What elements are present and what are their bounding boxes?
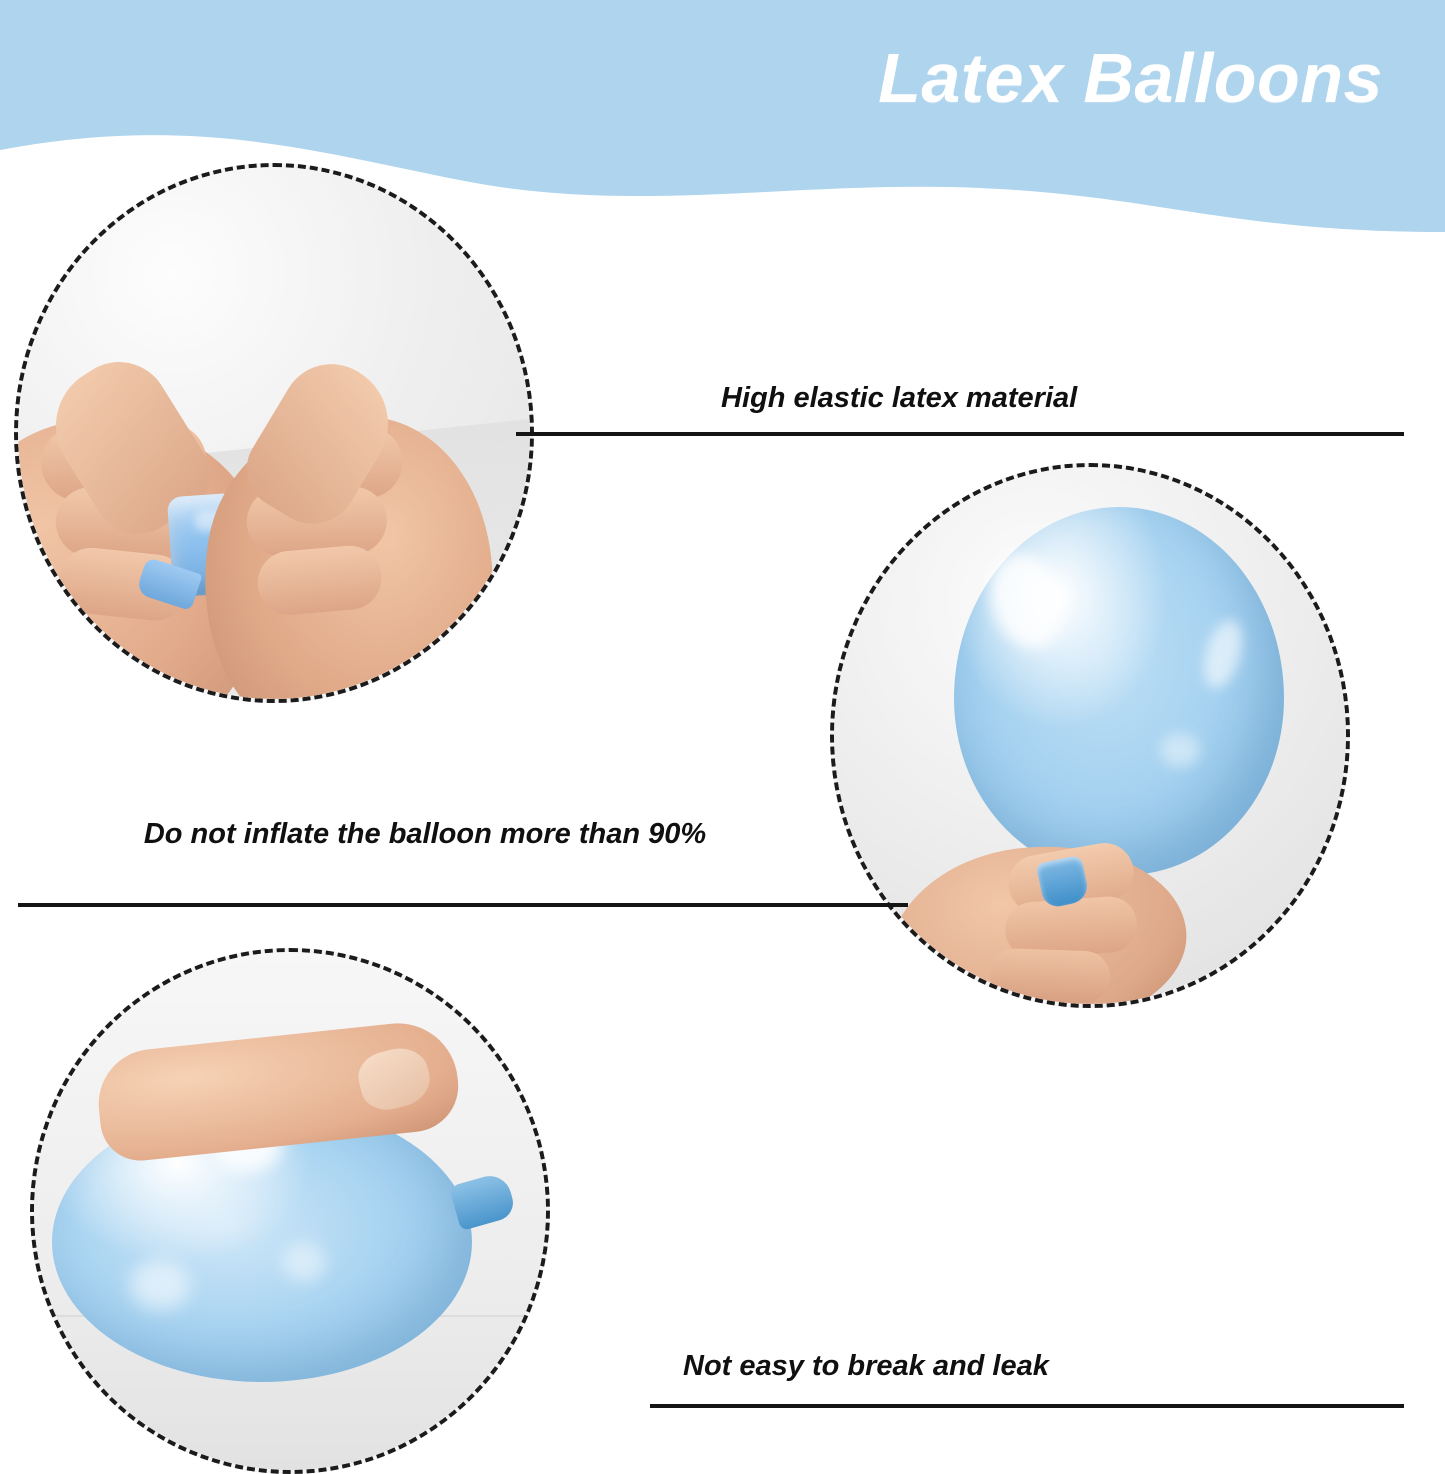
- balloon-highlight: [1197, 616, 1249, 693]
- caption-rule-2: [18, 903, 908, 907]
- balloon-highlight: [1160, 733, 1200, 767]
- caption-rule-3: [650, 1404, 1404, 1408]
- finger: [255, 543, 384, 618]
- finger: [989, 948, 1111, 1004]
- caption-high-elastic: High elastic latex material: [721, 382, 1077, 415]
- photo-inflated-balloon-image: [834, 467, 1346, 1004]
- caption-do-not-inflate: Do not inflate the balloon more than 90%: [110, 815, 740, 853]
- inflated-balloon: [954, 507, 1284, 875]
- caption-not-easy-break: Not easy to break and leak: [683, 1350, 1049, 1383]
- balloon-highlight: [282, 1242, 326, 1282]
- photo-press-test-image: [34, 952, 546, 1470]
- page-title: Latex Balloons: [878, 38, 1383, 118]
- photo-inflated-balloon: [830, 463, 1350, 1008]
- fingernail: [353, 1042, 435, 1115]
- photo-press-test: [30, 948, 550, 1474]
- caption-rule-1: [516, 432, 1404, 436]
- photo-stretch-test-image: [18, 167, 530, 699]
- photo-stretch-test: [14, 163, 534, 703]
- product-infographic: Latex Balloons: [0, 0, 1445, 1474]
- balloon-highlight: [130, 1260, 190, 1310]
